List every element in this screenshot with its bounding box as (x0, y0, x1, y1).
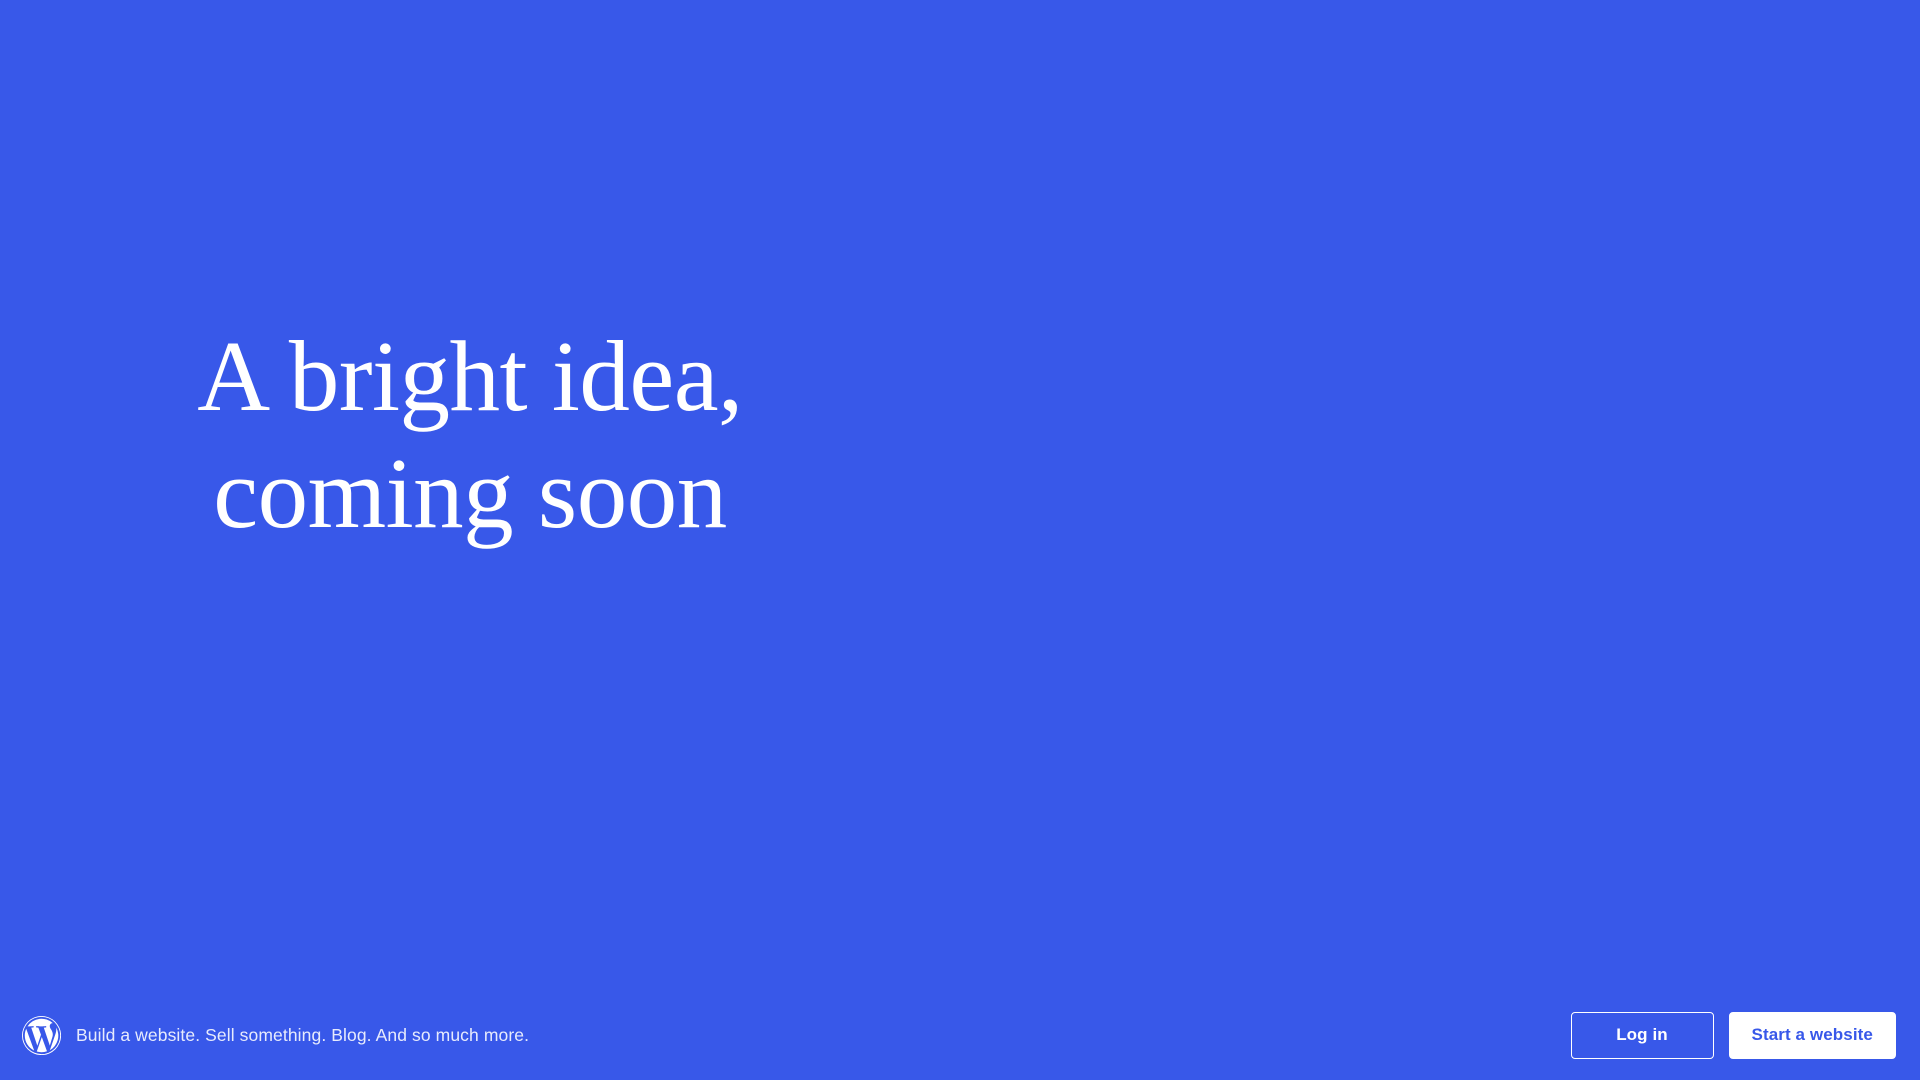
wordpress-logo-icon (22, 1016, 61, 1055)
footer-tagline: Build a website. Sell something. Blog. A… (76, 1025, 529, 1046)
hero-section: A bright idea, coming soon (0, 0, 1920, 1010)
footer-bar: Build a website. Sell something. Blog. A… (0, 990, 1920, 1080)
page-title: A bright idea, coming soon (110, 318, 830, 552)
coming-soon-page: A bright idea, coming soon Build a websi… (0, 0, 1920, 1080)
start-a-website-button[interactable]: Start a website (1729, 1012, 1897, 1059)
footer-actions: Log in Start a website (1571, 1012, 1897, 1059)
footer-branding: Build a website. Sell something. Blog. A… (22, 1016, 529, 1055)
login-button[interactable]: Log in (1571, 1012, 1714, 1059)
